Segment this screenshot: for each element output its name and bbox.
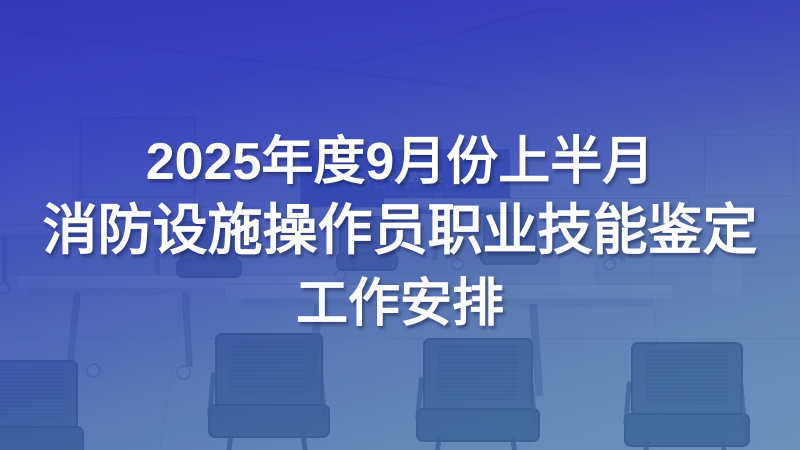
title-block: 2025年度9月份上半月 消防设施操作员职业技能鉴定 工作安排 — [0, 0, 800, 450]
title-line-1: 2025年度9月份上半月 — [146, 133, 655, 191]
title-line-2: 消防设施操作员职业技能鉴定 — [42, 191, 757, 271]
poster: 尹 粤丰消防学校 消 防 设 施 操 作 员 培 训 基 地 — [0, 0, 800, 450]
title-line-3: 工作安排 — [296, 271, 504, 339]
